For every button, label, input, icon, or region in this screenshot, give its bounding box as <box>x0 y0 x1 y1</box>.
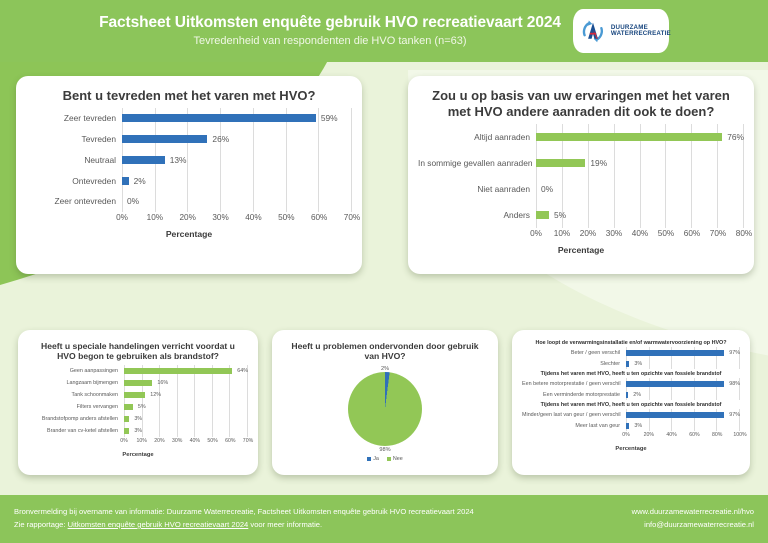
bar-category-label: Filters vervangen <box>28 404 124 410</box>
axis-tick: 80% <box>712 432 722 438</box>
axis-tick: 10% <box>147 213 163 222</box>
bar-value-label: 76% <box>722 132 744 142</box>
bar-track: 16% <box>124 377 248 388</box>
bar-fill <box>626 350 724 356</box>
bar-value-label: 19% <box>585 158 607 168</box>
pie-disc <box>348 372 422 446</box>
bar-row: In sommige gevallen aanraden19% <box>418 156 744 169</box>
legend-item: Ja <box>367 456 379 462</box>
axis-tick: 0% <box>120 438 128 444</box>
axis-tick: 20% <box>644 432 654 438</box>
bar-value-label: 0% <box>536 184 553 194</box>
bars-container: Altijd aanraden76%In sommige gevallen aa… <box>418 124 744 228</box>
header-text-block: Factsheet Uitkomsten enquête gebruik HVO… <box>99 14 561 47</box>
bars-container: Minder/geen last van geur / geen verschi… <box>522 409 740 431</box>
page-header: Factsheet Uitkomsten enquête gebruik HVO… <box>0 0 768 62</box>
group-title: Tijdens het varen met HVO, heeft u ten o… <box>522 402 740 408</box>
bar-track: 3% <box>124 413 248 424</box>
bar-value-label: 2% <box>628 392 641 398</box>
bar-category-label: Meer last van geur <box>522 423 626 429</box>
bar-value-label: 0% <box>122 196 139 206</box>
x-axis-label-recommend: Percentage <box>418 245 744 255</box>
bar-category-label: Ontevreden <box>26 176 122 186</box>
bar-fill <box>124 392 145 398</box>
x-axis-recommend: 0%10%20%30%40%50%60%70%80% <box>418 229 744 241</box>
bar-fill <box>124 404 133 410</box>
bar-track: 97% <box>626 347 740 358</box>
bar-category-label: Beter / geen verschil <box>522 350 626 356</box>
bar-track: 13% <box>122 153 352 166</box>
bar-fill <box>122 156 165 164</box>
x-axis-actions: 0%10%20%30%40%50%60%70% <box>28 438 248 450</box>
bar-row: Beter / geen verschil97% <box>522 347 740 358</box>
bar-fill <box>536 159 585 167</box>
bar-value-label: 97% <box>724 412 740 418</box>
bar-category-label: Brander van cv-ketel afstellen <box>28 428 124 434</box>
axis-tick: 40% <box>666 432 676 438</box>
bar-row: Een betere motorprestatie / geen verschi… <box>522 378 740 389</box>
axis-tick: 60% <box>689 432 699 438</box>
bar-value-label: 26% <box>207 134 229 144</box>
page-title: Factsheet Uitkomsten enquête gebruik HVO… <box>99 14 561 32</box>
bar-value-label: 59% <box>316 113 338 123</box>
group-title: Tijdens het varen met HVO, heeft u ten o… <box>522 371 740 377</box>
footer-website[interactable]: www.duurzamewaterrecreatie.nl/hvo <box>632 506 754 519</box>
axis-tick: 20% <box>180 213 196 222</box>
bar-value-label: 3% <box>129 416 142 422</box>
bar-row: Ontevreden2% <box>26 174 352 187</box>
bar-fill <box>122 114 316 122</box>
recycling-arrows-icon <box>579 17 607 45</box>
axis-tick: 60% <box>225 438 235 444</box>
bar-value-label: 3% <box>629 423 642 429</box>
logo: DUURZAME WATERRECREATIE <box>573 9 669 53</box>
bar-track: 2% <box>122 174 352 187</box>
heating-group-container: Hoe loopt de verwarmingsinstallatie en/o… <box>522 338 740 431</box>
axis-tick: 30% <box>606 229 622 238</box>
chart-title-recommend: Zou u op basis van uw ervaringen met het… <box>418 84 744 122</box>
bar-row: Brandstofpomp anders afstellen3% <box>28 413 248 424</box>
axis-tick-zone: 0%20%40%60%80%100% <box>626 432 740 444</box>
bar-track: 76% <box>536 130 744 143</box>
bar-fill <box>122 135 207 143</box>
axis-tick: 20% <box>580 229 596 238</box>
bar-fill <box>626 412 724 418</box>
footer-report-prefix: Zie rapportage: <box>14 520 68 529</box>
axis-tick: 0% <box>530 229 542 238</box>
bar-track: 0% <box>536 182 744 195</box>
panel-satisfaction: Bent u tevreden met het varen met HVO? Z… <box>16 76 362 274</box>
page-subtitle: Tevredenheid van respondenten die HVO ta… <box>99 35 561 48</box>
pie-label-nee: 98% <box>379 447 390 453</box>
bar-row: Zeer tevreden59% <box>26 112 352 125</box>
bars-container: Zeer tevreden59%Tevreden26%Neutraal13%On… <box>26 108 352 212</box>
bar-row: Brander van cv-ketel afstellen3% <box>28 425 248 436</box>
axis-tick-zone: 0%10%20%30%40%50%60%70%80% <box>536 229 744 241</box>
chart-problems: 2% 98% JaNee <box>282 366 488 462</box>
panel-recommend: Zou u op basis van uw ervaringen met het… <box>408 76 754 274</box>
legend-swatch <box>367 457 371 461</box>
axis-spacer <box>26 213 122 225</box>
axis-tick: 50% <box>658 229 674 238</box>
bar-category-label: Tank schoonmaken <box>28 392 124 398</box>
bar-fill <box>626 381 724 387</box>
bar-track: 64% <box>124 365 248 376</box>
axis-tick: 20% <box>154 438 164 444</box>
bar-row: Neutraal13% <box>26 153 352 166</box>
bar-row: Minder/geen last van geur / geen verschi… <box>522 409 740 420</box>
axis-tick: 60% <box>684 229 700 238</box>
legend-swatch <box>387 457 391 461</box>
axis-tick: 40% <box>190 438 200 444</box>
bar-track: 3% <box>124 425 248 436</box>
bar-category-label: Niet aanraden <box>418 184 536 194</box>
bar-row: Tevreden26% <box>26 133 352 146</box>
bar-row: Tank schoonmaken12% <box>28 389 248 400</box>
bars-container: Een betere motorprestatie / geen verschi… <box>522 378 740 400</box>
axis-tick: 50% <box>278 213 294 222</box>
x-axis-label-actions: Percentage <box>28 452 248 458</box>
bar-value-label: 16% <box>152 380 168 386</box>
bar-value-label: 5% <box>133 404 146 410</box>
bars-container: Beter / geen verschil97%Slechter3% <box>522 347 740 369</box>
bar-category-label: Slechter <box>522 361 626 367</box>
bar-track: 0% <box>122 195 352 208</box>
bar-row: Een verminderde motorprestatie2% <box>522 389 740 400</box>
bars-container: Geen aanpassingen64%Langzaam bijmengen16… <box>28 365 248 437</box>
axis-tick: 60% <box>311 213 327 222</box>
bar-value-label: 5% <box>549 210 566 220</box>
axis-tick: 40% <box>632 229 648 238</box>
bar-category-label: Altijd aanraden <box>418 132 536 142</box>
group-plot: Een betere motorprestatie / geen verschi… <box>522 378 740 400</box>
axis-tick: 10% <box>554 229 570 238</box>
page-footer: Bronvermelding bij overname van informat… <box>0 495 768 543</box>
chart-recommend: Altijd aanraden76%In sommige gevallen aa… <box>418 122 744 255</box>
logo-line-2: WATERRECREATIE <box>611 31 671 37</box>
bar-track: 3% <box>626 358 740 369</box>
axis-tick: 30% <box>212 213 228 222</box>
x-axis-satisfaction: 0%10%20%30%40%50%60%70% <box>26 213 352 225</box>
footer-report-link[interactable]: Uitkomsten enquête gebruik HVO recreatie… <box>68 520 249 529</box>
plot-area-recommend: Altijd aanraden76%In sommige gevallen aa… <box>418 124 744 228</box>
bar-category-label: Geen aanpassingen <box>28 368 124 374</box>
bar-category-label: Zeer tevreden <box>26 113 122 123</box>
axis-tick: 50% <box>207 438 217 444</box>
x-axis-label-satisfaction: Percentage <box>26 229 352 239</box>
bar-fill <box>536 211 549 219</box>
bar-value-label: 2% <box>129 176 146 186</box>
footer-report-suffix: voor meer informatie. <box>248 520 322 529</box>
axis-tick: 100% <box>733 432 746 438</box>
bar-value-label: 12% <box>145 392 161 398</box>
bar-track: 5% <box>124 401 248 412</box>
axis-spacer <box>28 438 124 450</box>
group-plot: Minder/geen last van geur / geen verschi… <box>522 409 740 431</box>
axis-tick-zone: 0%10%20%30%40%50%60%70% <box>122 213 352 225</box>
footer-left: Bronvermelding bij overname van informat… <box>14 506 474 532</box>
bar-track: 26% <box>122 133 352 146</box>
bar-category-label: Zeer ontevreden <box>26 196 122 206</box>
panel-actions: Heeft u speciale handelingen verricht vo… <box>18 330 258 475</box>
bar-value-label: 13% <box>165 155 187 165</box>
bar-category-label: Een betere motorprestatie / geen verschi… <box>522 381 626 387</box>
group-plot: Beter / geen verschil97%Slechter3% <box>522 347 740 369</box>
axis-tick: 70% <box>710 229 726 238</box>
bar-track: 19% <box>536 156 744 169</box>
x-axis-label-heating: Percentage <box>522 446 740 452</box>
bar-row: Altijd aanraden76% <box>418 130 744 143</box>
bar-category-label: Neutraal <box>26 155 122 165</box>
footer-email[interactable]: info@duurzamewaterrecreatie.nl <box>632 519 754 532</box>
bar-row: Geen aanpassingen64% <box>28 365 248 376</box>
group-title: Hoe loopt de verwarmingsinstallatie en/o… <box>522 340 740 346</box>
legend-label: Nee <box>393 456 403 462</box>
bar-row: Zeer ontevreden0% <box>26 195 352 208</box>
axis-tick: 10% <box>137 438 147 444</box>
bar-track: 98% <box>626 378 740 389</box>
bar-category-label: Anders <box>418 210 536 220</box>
bar-fill <box>124 380 152 386</box>
bar-row: Langzaam bijmengen16% <box>28 377 248 388</box>
bar-fill <box>536 133 722 141</box>
bar-track: 59% <box>122 112 352 125</box>
bar-track: 97% <box>626 409 740 420</box>
chart-title-satisfaction: Bent u tevreden met het varen met HVO? <box>26 84 352 106</box>
bar-row: Anders5% <box>418 208 744 221</box>
chart-actions: Geen aanpassingen64%Langzaam bijmengen16… <box>28 364 248 458</box>
footer-source-line: Bronvermelding bij overname van informat… <box>14 506 474 519</box>
footer-report-line: Zie rapportage: Uitkomsten enquête gebru… <box>14 519 474 532</box>
bar-category-label: Langzaam bijmengen <box>28 380 124 386</box>
x-axis-heating: 0%20%40%60%80%100% <box>522 432 740 444</box>
chart-heating: Hoe loopt de verwarmingsinstallatie en/o… <box>522 338 740 452</box>
axis-tick: 30% <box>172 438 182 444</box>
panel-heating: Hoe loopt de verwarmingsinstallatie en/o… <box>512 330 750 475</box>
legend-item: Nee <box>387 456 403 462</box>
axis-tick: 40% <box>245 213 261 222</box>
bar-track: 2% <box>626 389 740 400</box>
bar-row: Meer last van geur3% <box>522 420 740 431</box>
plot-area-actions: Geen aanpassingen64%Langzaam bijmengen16… <box>28 365 248 437</box>
bar-value-label: 3% <box>629 361 642 367</box>
bar-category-label: In sommige gevallen aanraden <box>418 158 536 168</box>
axis-spacer <box>418 229 536 241</box>
bar-track: 12% <box>124 389 248 400</box>
axis-spacer <box>522 432 626 444</box>
bar-row: Filters vervangen5% <box>28 401 248 412</box>
chart-satisfaction: Zeer tevreden59%Tevreden26%Neutraal13%On… <box>26 106 352 239</box>
bar-row: Niet aanraden0% <box>418 182 744 195</box>
axis-tick-zone: 0%10%20%30%40%50%60%70% <box>124 438 248 450</box>
axis-tick: 0% <box>622 432 630 438</box>
pie-legend: JaNee <box>367 456 403 462</box>
bar-category-label: Minder/geen last van geur / geen verschi… <box>522 412 626 418</box>
bar-value-label: 97% <box>724 350 740 356</box>
axis-tick: 80% <box>736 229 752 238</box>
axis-tick: 70% <box>243 438 253 444</box>
bar-category-label: Tevreden <box>26 134 122 144</box>
chart-title-problems: Heeft u problemen ondervonden door gebru… <box>282 338 488 364</box>
axis-tick: 70% <box>344 213 360 222</box>
bar-fill <box>124 368 232 374</box>
bar-category-label: Brandstofpomp anders afstellen <box>28 416 124 422</box>
plot-area-satisfaction: Zeer tevreden59%Tevreden26%Neutraal13%On… <box>26 108 352 212</box>
legend-label: Ja <box>373 456 379 462</box>
bar-track: 3% <box>626 420 740 431</box>
bar-value-label: 64% <box>232 368 248 374</box>
panel-problems: Heeft u problemen ondervonden door gebru… <box>272 330 498 475</box>
bar-track: 5% <box>536 208 744 221</box>
bar-row: Slechter3% <box>522 358 740 369</box>
footer-right: www.duurzamewaterrecreatie.nl/hvo info@d… <box>632 506 754 532</box>
chart-title-actions: Heeft u speciale handelingen verricht vo… <box>28 338 248 364</box>
bar-value-label: 3% <box>129 428 142 434</box>
bar-value-label: 98% <box>724 381 740 387</box>
logo-wordmark: DUURZAME WATERRECREATIE <box>611 25 671 37</box>
bar-category-label: Een verminderde motorprestatie <box>522 392 626 398</box>
axis-tick: 0% <box>116 213 128 222</box>
